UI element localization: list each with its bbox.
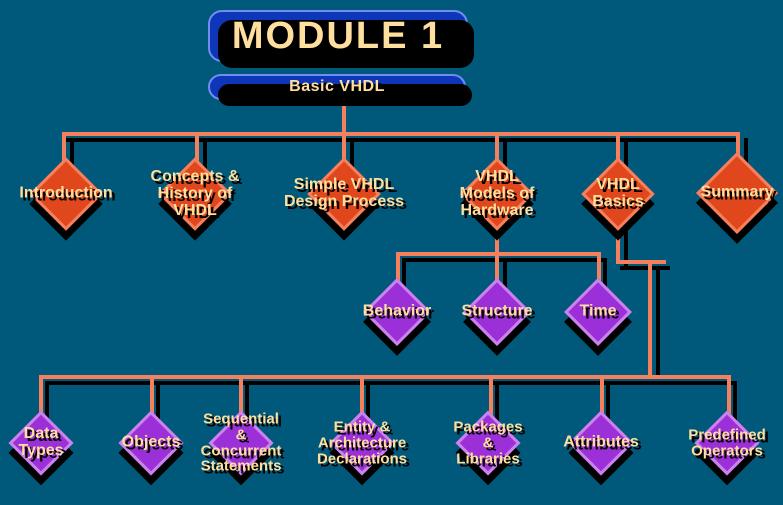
connector-vhdl-basics-elbow-h (616, 260, 666, 264)
node-vhdl-models-of-hardware[interactable]: VHDLModels ofHardware (471, 168, 523, 220)
diamond-shape (208, 410, 273, 475)
node-introduction[interactable]: Introduction (40, 168, 92, 220)
module-subtitle-label: Basic VHDL (289, 78, 385, 96)
connector-drop-attributes-shadow (606, 381, 610, 421)
node-attributes[interactable]: Attributes (578, 420, 624, 466)
connector-vhdl-basics-elbow-h-shadow (620, 266, 670, 270)
node-packages-libraries[interactable]: Packages&Libraries (465, 420, 511, 466)
node-predefined-operators[interactable]: PredefinedOperators (704, 420, 750, 466)
node-structure[interactable]: Structure (473, 288, 521, 336)
connector-bus-level3-shadow (45, 381, 737, 385)
connector-drop-predefined-shadow (733, 381, 737, 421)
diamond-shape (29, 157, 103, 231)
diagram-canvas: MODULE 1 Basic VHDL Introduction Concept… (0, 0, 783, 505)
connector-bus-level1 (62, 132, 736, 136)
diamond-shape (158, 157, 232, 231)
connector-vhdl-basics-elbow-v2 (648, 260, 652, 378)
node-sequential-concurrent-statements[interactable]: Sequential&ConcurrentStatements (218, 420, 264, 466)
node-behavior[interactable]: Behavior (373, 288, 421, 336)
diamond-shape (118, 410, 183, 475)
diamond-shape (455, 410, 520, 475)
node-simple-vhdl-design-process[interactable]: Simple VHDLDesign Process (318, 168, 370, 220)
module-subtitle-box: Basic VHDL (208, 74, 466, 100)
diamond-shape (307, 157, 381, 231)
diamond-shape (581, 157, 655, 231)
connector-vhdl-basics-elbow-v2-shadow (656, 266, 660, 378)
node-data-types[interactable]: DataTypes (18, 420, 64, 466)
diamond-shape (696, 152, 778, 234)
node-objects[interactable]: Objects (128, 420, 174, 466)
node-time[interactable]: Time (574, 288, 622, 336)
diamond-shape (460, 157, 534, 231)
node-concepts-history-vhdl[interactable]: Concepts &History ofVHDL (169, 168, 221, 220)
diamond-shape (463, 278, 531, 346)
node-vhdl-basics[interactable]: VHDLBasics (592, 168, 644, 220)
node-entity-architecture-declarations[interactable]: Entity &ArchitectureDeclarations (339, 420, 385, 466)
diamond-shape (8, 410, 73, 475)
diamond-shape (564, 278, 632, 346)
diamond-shape (694, 410, 759, 475)
module-title-label: MODULE 1 (232, 15, 444, 58)
connector-bus-level1-shadow (66, 138, 740, 142)
connector-drop-objects-shadow (156, 381, 160, 421)
diamond-shape (329, 410, 394, 475)
connector-drop-packages-shadow (495, 381, 499, 421)
diamond-shape (363, 278, 431, 346)
diamond-shape (568, 410, 633, 475)
connector-bus-level3 (39, 375, 731, 379)
node-summary[interactable]: Summary (708, 164, 766, 222)
module-title-box: MODULE 1 (208, 10, 468, 62)
